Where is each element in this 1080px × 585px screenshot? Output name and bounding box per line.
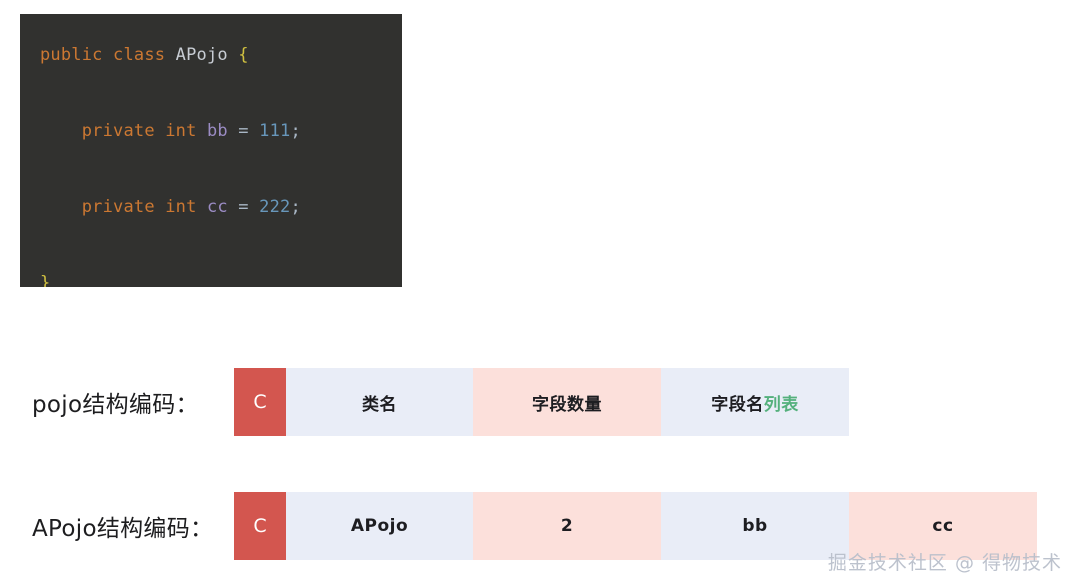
line-field-cc: private int cc = 222;: [20, 188, 402, 226]
line-blank-3: [20, 226, 402, 264]
code-token-space: [40, 121, 82, 141]
code-token-space: [249, 197, 259, 217]
seg-text-part: 字段名: [711, 390, 764, 415]
code-token-space: [197, 197, 207, 217]
seg-text-part: 列表: [764, 390, 799, 415]
code-token-space: [228, 45, 238, 65]
seg-class-name: 类名: [286, 368, 473, 436]
code-token-space: [228, 121, 238, 141]
line-field-bb: private int bb = 111;: [20, 112, 402, 150]
apojo-row-label: APojo结构编码：: [0, 509, 234, 543]
code-token-punctuation: ;: [290, 121, 300, 141]
seg-value-count: 2: [473, 492, 661, 560]
seg-field-count: 字段数量: [473, 368, 661, 436]
code-token-space: [165, 45, 175, 65]
code-token-number: 222: [259, 197, 290, 217]
java-code-block: public class APojo { private int bb = 11…: [20, 14, 402, 287]
code-token-field: cc: [207, 197, 228, 217]
code-token-space: [228, 197, 238, 217]
code-token-space: [249, 121, 259, 141]
code-token-keyword: public: [40, 45, 103, 65]
line-blank-2: [20, 150, 402, 188]
code-token-number: 111: [259, 121, 290, 141]
code-token-operator: =: [238, 197, 248, 217]
code-token-keyword: private: [82, 197, 155, 217]
code-token-operator: =: [238, 121, 248, 141]
code-token-field: bb: [207, 121, 228, 141]
code-token-space: [155, 197, 165, 217]
line-class-decl: public class APojo {: [20, 36, 402, 74]
code-token-keyword: private: [82, 121, 155, 141]
code-token-space: [103, 45, 113, 65]
code-token-space: [197, 121, 207, 141]
seg-marker-c-2: C: [234, 492, 286, 560]
seg-marker-c: C: [234, 368, 286, 436]
pojo-row-label: pojo结构编码：: [0, 385, 234, 419]
code-token-type: int: [165, 197, 196, 217]
code-token-brace: {: [238, 45, 248, 65]
code-lines-container: public class APojo { private int bb = 11…: [20, 36, 402, 287]
code-token-space: [155, 121, 165, 141]
line-class-close: }: [20, 264, 402, 287]
seg-value-bb: bb: [661, 492, 849, 560]
code-token-keyword: class: [113, 45, 165, 65]
seg-field-list: 字段名列表: [661, 368, 849, 436]
code-token-brace: }: [40, 273, 50, 287]
pojo-structure-encoding-row: pojo结构编码： C类名字段数量字段名列表: [0, 368, 849, 436]
code-token-class-name: APojo: [176, 45, 228, 65]
pojo-encoding-bar: C类名字段数量字段名列表: [234, 368, 849, 436]
seg-value-apojo: APojo: [286, 492, 473, 560]
watermark-text: 掘金技术社区 @ 得物技术: [828, 548, 1062, 575]
code-token-type: int: [165, 121, 196, 141]
line-blank-1: [20, 74, 402, 112]
code-token-punctuation: ;: [290, 197, 300, 217]
code-token-space: [40, 197, 82, 217]
